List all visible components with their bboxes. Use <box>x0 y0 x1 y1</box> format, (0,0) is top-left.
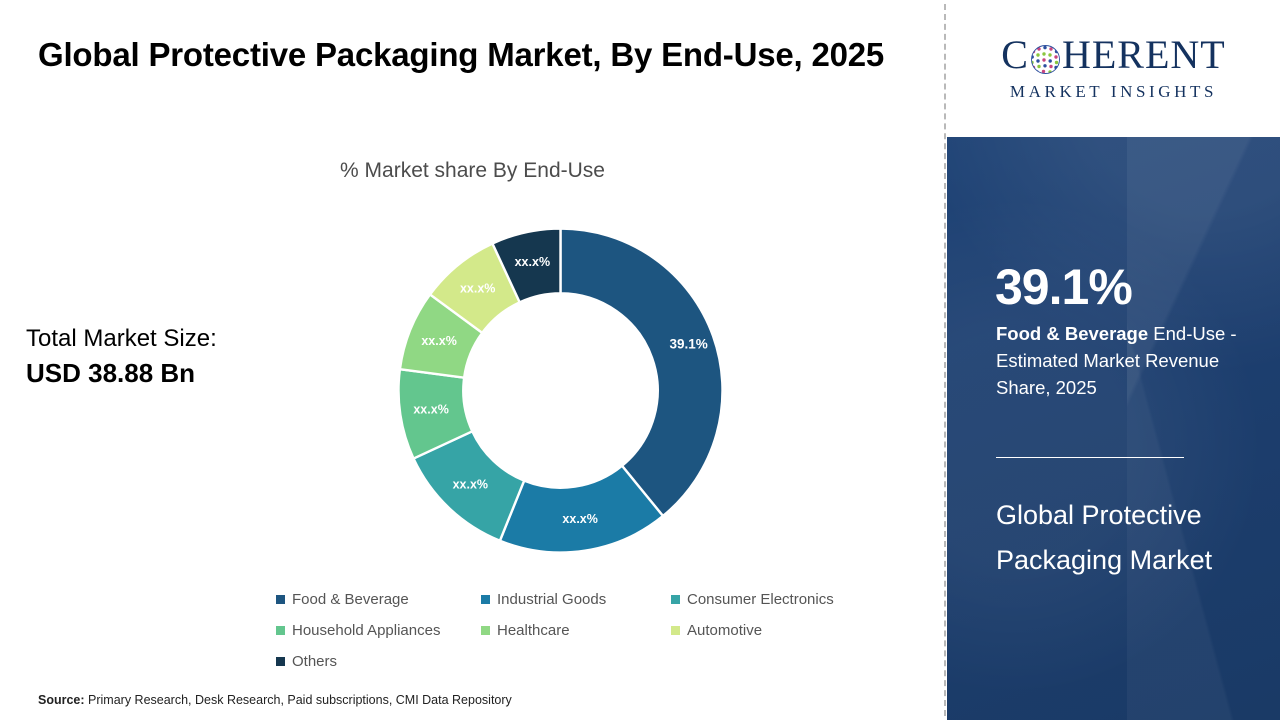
donut-slice-label: xx.x% <box>421 334 456 348</box>
legend-item-label: Industrial Goods <box>497 591 606 608</box>
source-label: Source: <box>38 693 85 707</box>
total-market-size-label: Total Market Size: <box>26 322 326 355</box>
legend-swatch-icon <box>481 595 490 604</box>
legend-swatch-icon <box>671 595 680 604</box>
legend-item-label: Others <box>292 653 337 670</box>
legend-item[interactable]: Industrial Goods <box>481 591 671 608</box>
left-content-panel: Global Protective Packaging Market, By E… <box>0 0 945 720</box>
legend-item-label: Food & Beverage <box>292 591 409 608</box>
legend-swatch-icon <box>481 626 490 635</box>
logo-subtitle: MARKET INSIGHTS <box>1001 82 1225 102</box>
panel-divider <box>944 4 946 716</box>
legend-item[interactable]: Consumer Electronics <box>671 591 871 608</box>
legend-item[interactable]: Household Appliances <box>276 622 481 639</box>
legend-item-label: Consumer Electronics <box>687 591 834 608</box>
total-market-size-value: USD 38.88 Bn <box>26 355 326 391</box>
logo-word-part2: HERENT <box>1062 35 1226 75</box>
market-name-label: Global Protective Packaging Market <box>996 493 1246 583</box>
donut-chart: 39.1%xx.x%xx.x%xx.x%xx.x%xx.x%xx.x% <box>398 228 723 553</box>
source-text: Primary Research, Desk Research, Paid su… <box>85 693 512 707</box>
total-market-size-block: Total Market Size: USD 38.88 Bn <box>26 322 326 391</box>
legend-swatch-icon <box>276 595 285 604</box>
globe-dots-icon <box>1030 42 1061 73</box>
legend-item[interactable]: Healthcare <box>481 622 671 639</box>
legend-swatch-icon <box>276 626 285 635</box>
donut-chart-svg: 39.1%xx.x%xx.x%xx.x%xx.x%xx.x%xx.x% <box>398 228 723 553</box>
chart-legend: Food & BeverageIndustrial GoodsConsumer … <box>276 584 916 677</box>
legend-row: Food & BeverageIndustrial GoodsConsumer … <box>276 584 916 615</box>
donut-slice-label: xx.x% <box>453 478 488 492</box>
legend-swatch-icon <box>276 657 285 666</box>
legend-item[interactable]: Automotive <box>671 622 871 639</box>
logo-word-part1: C <box>1001 35 1029 75</box>
donut-slice-label: xx.x% <box>460 281 495 295</box>
legend-swatch-icon <box>671 626 680 635</box>
chart-subtitle: % Market share By End-Use <box>0 159 945 183</box>
legend-item-label: Household Appliances <box>292 622 440 639</box>
legend-item-label: Automotive <box>687 622 762 639</box>
donut-slice-label: xx.x% <box>562 512 597 526</box>
donut-slice-label: xx.x% <box>515 255 550 269</box>
legend-row: Household AppliancesHealthcareAutomotive <box>276 615 916 646</box>
legend-item[interactable]: Others <box>276 653 481 670</box>
donut-slices <box>399 229 723 553</box>
legend-row: Others <box>276 646 916 677</box>
company-logo: C <box>947 0 1280 137</box>
logo-inner: C <box>1001 35 1225 102</box>
legend-item[interactable]: Food & Beverage <box>276 591 481 608</box>
highlight-stat-value: 39.1% <box>995 262 1132 312</box>
highlight-stat-description: Food & Beverage End-Use - Estimated Mark… <box>996 320 1264 401</box>
sidebar-divider-rule <box>996 457 1184 458</box>
highlight-segment-name: Food & Beverage <box>996 323 1148 344</box>
donut-slice[interactable] <box>561 229 723 516</box>
source-line: Source: Primary Research, Desk Research,… <box>38 693 512 707</box>
sidebar-content: 39.1% Food & Beverage End-Use - Estimate… <box>947 137 1280 720</box>
donut-slice-label: 39.1% <box>670 336 708 351</box>
page-title: Global Protective Packaging Market, By E… <box>38 30 918 80</box>
legend-item-label: Healthcare <box>497 622 570 639</box>
right-sidebar-panel: C <box>947 0 1280 720</box>
infographic-page: Global Protective Packaging Market, By E… <box>0 0 1280 720</box>
donut-slice-label: xx.x% <box>413 402 448 416</box>
logo-wordmark: C <box>1001 35 1225 75</box>
